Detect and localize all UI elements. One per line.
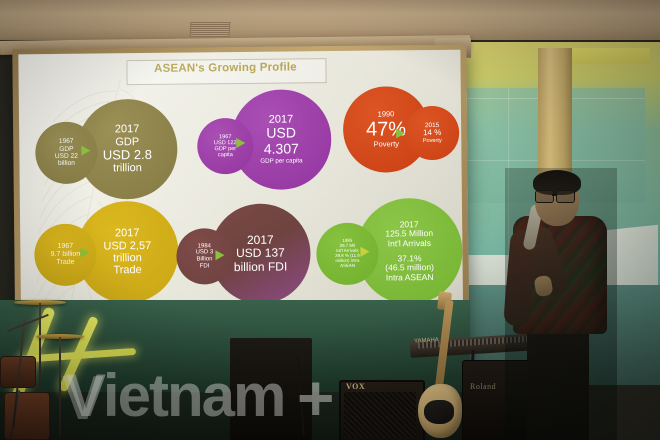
ceiling-vent-icon (190, 22, 231, 37)
amplifier-grill (344, 392, 416, 438)
bubble-poverty-2015: 2015 14 % Poverty (405, 106, 460, 161)
vietnamplus-watermark: V Vietnam + (22, 355, 352, 429)
roland-amp-label: Roland (470, 382, 496, 391)
bubble-line: 9.7 billion (51, 251, 81, 259)
bubble-line: GDP per capita (260, 159, 302, 166)
guitar-pickguard (424, 400, 454, 424)
bubble-line: Trade (51, 259, 81, 267)
arrow-right-icon (360, 247, 369, 257)
bubble-line: trillion (103, 162, 152, 175)
eyeglasses-icon (535, 190, 577, 201)
arrow-right-icon (80, 248, 89, 258)
arrow-right-icon (81, 146, 90, 156)
bubble-line: USD 2.8 (103, 148, 152, 163)
bubble-line: 2017 (102, 123, 151, 136)
bubble-line: billion (55, 160, 78, 168)
bubble-line: billion FDI (234, 260, 287, 274)
bubble-line: Poverty (366, 140, 406, 149)
watermark-text: Vietnam (66, 361, 284, 430)
arrow-right-icon (215, 250, 224, 260)
bubble-line: Poverty (423, 138, 442, 144)
ceiling (0, 0, 660, 40)
bubble-line: 14 % (423, 129, 442, 138)
watermark-plus-icon: + (297, 361, 334, 435)
presenter (505, 168, 617, 440)
bubble-line: USD (260, 125, 302, 141)
bubble-line: FDI (196, 263, 214, 270)
bubble-line: Trade (104, 264, 152, 277)
slide-title: ASEAN's Growing Profile (126, 61, 324, 75)
arrow-right-icon (236, 138, 245, 148)
presentation-photo: ASEAN's Growing Profile 1967 GDP USD 22 … (0, 0, 660, 440)
bubble-line: trillion (104, 252, 152, 265)
bubble-line: capita (214, 152, 237, 158)
bubble-line: USD 2,57 (103, 240, 151, 253)
arrow-right-icon (396, 128, 405, 138)
bass-guitar (418, 300, 464, 440)
guitar-neck (434, 300, 453, 392)
bubble-line: Intra ASEAN (385, 273, 434, 283)
bubble-line: 4.307 (260, 141, 302, 157)
bubble-line: 2017 (103, 227, 151, 240)
bubble-line: ASEAN (335, 264, 360, 269)
bubble-line: Billion (196, 256, 214, 263)
